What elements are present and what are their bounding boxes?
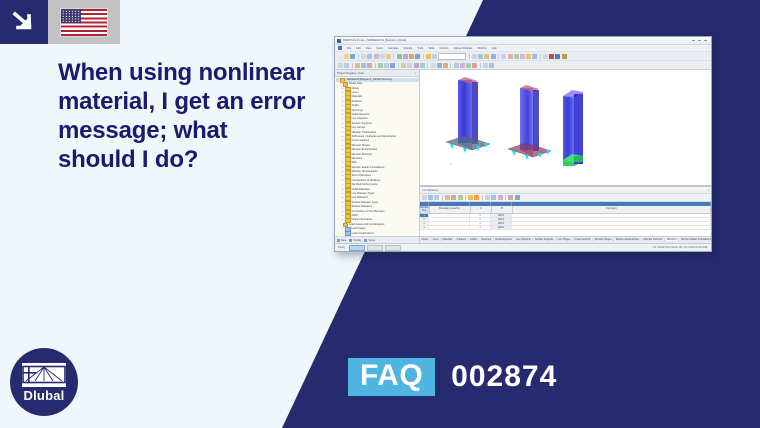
display-icon	[349, 239, 352, 242]
tree-expander-icon[interactable]: +	[341, 167, 344, 170]
toolbar-button-ortho[interactable]	[484, 54, 489, 59]
toolbar2-button-sections[interactable]	[431, 63, 436, 68]
menu-item-file[interactable]: File	[347, 47, 351, 50]
table-button-first[interactable]	[422, 195, 427, 200]
toolbar2-button-move[interactable]	[454, 63, 459, 68]
tree-item-label: FE Mesh Refinements	[352, 184, 378, 187]
viewport-and-table: ⌖ 1.17 Members ×	[420, 70, 711, 243]
toolbar-separator-4	[469, 54, 470, 59]
table-button-highlight[interactable]	[468, 195, 473, 200]
table-button-sort[interactable]	[474, 195, 479, 200]
toolbar-button-help[interactable]	[562, 54, 567, 59]
table-sheet-tab[interactable]: Member Divisions	[642, 239, 665, 241]
tree-item-label: Load Cases	[352, 228, 366, 231]
toolbar-primary[interactable]	[335, 52, 711, 61]
table-header-comment: Comment	[513, 206, 711, 213]
toolbar-button-preview[interactable]	[367, 54, 372, 59]
tree-expander-icon[interactable]: +	[341, 228, 344, 231]
tree-item-label: Member Elastic Foundations	[352, 167, 385, 170]
tree-expander-icon[interactable]: +	[341, 215, 344, 218]
toolbar-button-snap[interactable]	[472, 54, 477, 59]
toolbar2-button-visibility[interactable]	[378, 63, 383, 68]
faq-badge: FAQ	[348, 358, 435, 396]
close-icon[interactable]	[704, 40, 707, 41]
tree-item-label: Line Supports	[352, 118, 368, 121]
model-viewport-3d[interactable]: ⌖	[420, 70, 711, 186]
toolbar-button-print[interactable]	[361, 54, 366, 59]
status-right: CS: Global XYZ | Mesh: OK | SI | CAPS NU…	[653, 246, 708, 249]
table-sheet-tab[interactable]: Members	[665, 239, 679, 241]
toolbar2-separator-5	[450, 63, 451, 68]
table-cell[interactable]	[512, 214, 711, 217]
navigator-tab-views-label: Views	[368, 239, 375, 242]
menu-item-options[interactable]: Options	[440, 47, 449, 50]
column-2	[508, 85, 551, 160]
table-cell[interactable]: 200.0	[491, 214, 512, 217]
table-button-export[interactable]	[458, 195, 463, 200]
views-icon	[364, 239, 367, 242]
toolbar-button-undo[interactable]	[397, 54, 402, 59]
navigator-tab-views[interactable]: Views	[364, 239, 375, 242]
navigator-tab-display-label: Display	[353, 239, 361, 242]
menu-item-results[interactable]: Results	[404, 47, 413, 50]
table-sheet-tab[interactable]: Line Supports	[514, 239, 533, 241]
toolbar-button-grid[interactable]	[478, 54, 483, 59]
flag-canton	[61, 9, 81, 24]
navigator-header: Project Navigator - Data ⌐ ×	[335, 70, 419, 77]
toolbar2-button-zoom-all[interactable]	[361, 63, 366, 68]
tree-expander-icon[interactable]: +	[341, 96, 344, 99]
menu-item-table[interactable]: Table	[428, 47, 434, 50]
table-cell[interactable]: 200.0	[491, 226, 512, 229]
toolbar2-button-deform[interactable]	[407, 63, 412, 68]
tree-item-label: Surface Releases	[352, 206, 372, 209]
toolbar-button-cut[interactable]	[374, 54, 379, 59]
toolbar2-button-dimension[interactable]	[437, 63, 442, 68]
language-flag-badge[interactable]	[48, 0, 120, 44]
table-rows-container[interactable]: 11200.021200.031200.041200.0	[420, 214, 711, 230]
table-header-boundary: Boundary Lines No.	[430, 206, 471, 213]
toolbar-separator-3	[423, 54, 424, 59]
table-sheet-tab[interactable]: Nodes	[420, 239, 431, 241]
table-cell[interactable]: 3	[420, 222, 429, 225]
toolbar-button-wire[interactable]	[432, 54, 437, 59]
table-button-find[interactable]	[498, 195, 503, 200]
tree-expander-icon[interactable]: +	[341, 110, 344, 113]
toolbar-button-lines[interactable]	[508, 54, 513, 59]
table-cell[interactable]	[512, 222, 711, 225]
toolbar2-button-view-xy[interactable]	[344, 63, 349, 68]
status-button-graphic[interactable]	[367, 245, 383, 251]
table-cell[interactable]	[512, 218, 711, 221]
page-title: When using nonlinear material, I get an …	[58, 58, 306, 174]
tree-expander-icon[interactable]: +	[341, 154, 344, 157]
table-cell[interactable]: 1	[470, 218, 491, 221]
toolbar2-button-stress[interactable]	[414, 63, 419, 68]
us-flag-icon	[61, 9, 107, 36]
table-cell[interactable]	[429, 218, 470, 221]
table-button-settings[interactable]	[485, 195, 490, 200]
table-button-next[interactable]	[434, 195, 439, 200]
toolbar2-separator-2	[375, 63, 376, 68]
arrow-down-right-icon	[12, 11, 36, 33]
menu-bar[interactable]: File Edit View Insert Calculate Results …	[335, 45, 711, 52]
tree-expander-icon[interactable]: +	[341, 180, 344, 183]
tree-expander-icon[interactable]: +	[341, 197, 344, 200]
table-cell[interactable]: 1	[470, 226, 491, 229]
toolbar-button-zoom[interactable]	[409, 54, 414, 59]
flag-stars	[62, 10, 80, 23]
tree-expander-icon[interactable]: +	[341, 219, 344, 222]
tree-expander-icon[interactable]: -	[341, 158, 344, 161]
tree-expander-icon[interactable]: +	[341, 140, 344, 143]
tree-expander-icon[interactable]: +	[341, 233, 344, 236]
table-title: 1.17 Members	[422, 189, 438, 192]
tree-expander-icon[interactable]: +	[341, 171, 344, 174]
tree-item-label: Connection of Two Members	[352, 211, 385, 214]
tree-item-label: Cross-Sections	[352, 140, 370, 143]
tree-expander-icon[interactable]: -	[339, 224, 342, 227]
navigator-tab-data-label: Data	[341, 239, 346, 242]
menu-item-addons[interactable]: Add-on Modules	[453, 47, 472, 50]
app-icon	[337, 39, 341, 43]
tree-expander-icon[interactable]: +	[341, 132, 344, 135]
toolbar2-separator-3	[398, 63, 399, 68]
tree-item-label: Surface Supports	[352, 123, 372, 126]
table-sep-3	[482, 195, 483, 200]
toolbar2-button-info[interactable]	[489, 63, 494, 68]
tree-expander-icon[interactable]: +	[341, 105, 344, 108]
table-button-info[interactable]	[515, 195, 520, 200]
tree-expander-icon[interactable]: +	[341, 175, 344, 178]
toolbar2-button-mirror[interactable]	[460, 63, 465, 68]
tree-item-label: Sets of Members	[352, 175, 372, 178]
table-sep	[442, 195, 443, 200]
toolbar2-button-array[interactable]	[466, 63, 471, 68]
window-title-bar[interactable]: RFEM 5.21.01.xxx - [VERKEHR FH_Beispiel …	[335, 37, 711, 45]
toolbar-button-paste[interactable]	[386, 54, 391, 59]
tree-item-label: Nodal Releases	[352, 189, 370, 192]
toolbar-button-osnap[interactable]	[491, 54, 496, 59]
tree-expander-icon[interactable]: +	[341, 114, 344, 117]
toolbar-secondary[interactable]	[335, 61, 711, 70]
toolbar-button-members[interactable]	[514, 54, 519, 59]
table-cell[interactable]: 200.0	[491, 222, 512, 225]
status-bar: Ready CS: Global XYZ | Mesh: OK | SI | C…	[335, 243, 711, 251]
toolbar-separator-2	[393, 54, 394, 59]
table-button-insert-row[interactable]	[445, 195, 450, 200]
toolbar-button-pan[interactable]	[415, 54, 420, 59]
tree-item-label: Line Releases	[352, 197, 368, 200]
window-controls[interactable]	[692, 40, 709, 41]
tree-expander-icon[interactable]: +	[341, 162, 344, 165]
table-sheet-tab[interactable]: Lines	[431, 239, 441, 241]
tree-expander-icon[interactable]: +	[341, 145, 344, 148]
tree-expander-icon[interactable]: +	[341, 189, 344, 192]
structural-model-graphic	[420, 70, 711, 170]
maximize-icon[interactable]	[698, 40, 701, 41]
table-cell[interactable]: 4	[420, 226, 429, 229]
tree-item-label: Nodal Constraints	[352, 219, 373, 222]
toolbar2-separator-6	[480, 63, 481, 68]
table-sheet-tab[interactable]: Surface Supports	[533, 239, 556, 241]
minimize-icon[interactable]	[692, 40, 695, 41]
tree-item-label: Solids	[352, 105, 359, 108]
table-sheet-tab[interactable]: Member Eccentricities	[614, 239, 642, 241]
table-button-prev[interactable]	[428, 195, 433, 200]
table-cell[interactable]: 2	[420, 218, 429, 221]
table-sheet-tab[interactable]: Solids	[469, 239, 480, 241]
navigator-tab-display[interactable]: Display	[349, 239, 361, 242]
menu-item-edit[interactable]: Edit	[356, 47, 360, 50]
table-button-filter[interactable]	[491, 195, 496, 200]
faq-footer: FAQ 002874	[348, 358, 557, 396]
toolbar-button-surfaces[interactable]	[520, 54, 525, 59]
application-body: Project Navigator - Data ⌐ × - VERKEHR […	[335, 70, 711, 243]
menu-item-help[interactable]: Help	[492, 47, 497, 50]
navigator-header-label: Project Navigator - Data	[337, 72, 364, 75]
tree-item-label: Model Data	[349, 83, 362, 86]
table-close-icon[interactable]: ×	[708, 189, 711, 192]
arrow-badge	[0, 0, 48, 44]
toolbar-button-new[interactable]	[338, 54, 343, 59]
menu-item-tools[interactable]: Tools	[417, 47, 423, 50]
toolbar2-button-loads[interactable]	[401, 63, 406, 68]
table-sheet-tab[interactable]: Openings	[479, 239, 493, 241]
table-cell[interactable]	[512, 226, 711, 229]
toolbar-button-solids[interactable]	[526, 54, 531, 59]
table-row[interactable]: 41200.0	[420, 226, 711, 230]
table-button-delete-row[interactable]	[451, 195, 456, 200]
tree-expander-icon[interactable]: +	[341, 149, 344, 152]
navigator-pin-icon[interactable]: ⌐ ×	[410, 72, 419, 75]
tree-expander-icon[interactable]: -	[339, 83, 342, 86]
tree-item-label: Variable Thicknesses	[352, 132, 376, 135]
table-sep-2	[465, 195, 466, 200]
data-table-panel[interactable]: 1.17 Members ×	[420, 186, 711, 243]
table-header-thickness: B	[492, 206, 513, 213]
toolbar-button-save[interactable]	[350, 54, 355, 59]
tree-expander-icon[interactable]: +	[341, 101, 344, 104]
toolbar-button-copy[interactable]	[380, 54, 385, 59]
load-case-select[interactable]	[438, 53, 466, 60]
toolbar2-button-zoom-win[interactable]	[355, 63, 360, 68]
menu-item-window[interactable]: Window	[477, 47, 486, 50]
toolbar2-button-view-iso[interactable]	[338, 63, 343, 68]
table-cell[interactable]	[429, 226, 470, 229]
data-icon	[337, 239, 340, 242]
tree-expander-icon[interactable]: +	[341, 136, 344, 139]
dlubal-logo[interactable]: Dlubal	[10, 348, 78, 416]
toolbar-button-supports[interactable]	[532, 54, 537, 59]
table-cell[interactable]	[429, 222, 470, 225]
tree-expander-icon[interactable]: +	[341, 202, 344, 205]
toolbar2-button-delete[interactable]	[472, 63, 477, 68]
status-button-ok[interactable]	[385, 245, 401, 251]
toolbar-button-calc[interactable]	[543, 54, 548, 59]
table-sheet-tab[interactable]: Line Hinges	[556, 239, 573, 241]
status-button-row[interactable]	[349, 245, 401, 251]
toolbar2-button-text[interactable]	[443, 63, 448, 68]
mouse-cursor-icon: ⌖	[450, 162, 452, 166]
tree-expander-icon[interactable]: +	[341, 211, 344, 214]
logo-wordmark: Dlubal	[10, 388, 78, 403]
toolbar2-button-layers[interactable]	[384, 63, 389, 68]
table-cell[interactable]: 200.0	[491, 218, 512, 221]
status-button-calculation[interactable]	[349, 245, 365, 251]
toolbar2-button-filter[interactable]	[390, 63, 395, 68]
table-header-member-no: Member No.	[420, 206, 430, 213]
toolbar-button-results[interactable]	[549, 54, 554, 59]
tree-item-label: Materials	[352, 96, 363, 99]
table-cell[interactable]: 1	[470, 222, 491, 225]
table-cell[interactable]: 1	[470, 214, 491, 217]
tree-expander-icon[interactable]: +	[341, 127, 344, 130]
column-1	[446, 77, 490, 153]
faq-number: 002874	[451, 362, 557, 392]
navigator-tabs[interactable]: Data Display Views	[335, 236, 419, 243]
rfem-application-window[interactable]: RFEM 5.21.01.xxx - [VERKEHR FH_Beispiel …	[334, 36, 712, 252]
table-sheet-tab[interactable]: Surfaces	[455, 239, 469, 241]
table-grid[interactable]: Member No. Boundary Lines No. A B Commen…	[420, 202, 711, 236]
tree-expander-icon[interactable]: +	[341, 88, 344, 91]
truss-bridge-icon	[22, 363, 66, 387]
table-toolbar[interactable]	[420, 194, 711, 202]
toolbar-separator	[358, 54, 359, 59]
toolbar-separator-5	[498, 54, 499, 59]
tree-item-label: Ribs	[352, 162, 357, 165]
tree-expander-icon[interactable]: +	[341, 118, 344, 121]
toolbar2-separator-4	[427, 63, 428, 68]
tree-item-label: Load Cases and Combinations	[349, 224, 384, 227]
tree-expander-icon[interactable]: +	[341, 193, 344, 196]
tree-expander-icon[interactable]: +	[341, 92, 344, 95]
toolbar-button-nodes[interactable]	[501, 54, 506, 59]
table-button-print[interactable]	[508, 195, 513, 200]
toolbar-button-render[interactable]	[426, 54, 431, 59]
table-sheet-tab[interactable]: Member Elastic Foundations	[679, 239, 711, 241]
menu-app-icon	[338, 46, 342, 50]
toolbar2-button-settings[interactable]	[483, 63, 488, 68]
table-title-bar: 1.17 Members ×	[420, 187, 711, 194]
tree-expander-icon[interactable]: +	[341, 206, 344, 209]
slide-canvas: When using nonlinear material, I get an …	[0, 0, 760, 428]
table-sep-4	[505, 195, 506, 200]
tree-item-label: Openings	[352, 110, 363, 113]
project-navigator-panel[interactable]: Project Navigator - Data ⌐ × - VERKEHR […	[335, 70, 420, 243]
tree-item-label: Line Hinges	[352, 127, 366, 130]
toolbar-button-redo[interactable]	[403, 54, 408, 59]
menu-item-view[interactable]: View	[366, 47, 372, 50]
table-sheet-tab[interactable]: Materials	[441, 239, 455, 241]
table-header-material: A	[471, 206, 492, 213]
toolbar2-button-mesh[interactable]	[420, 63, 425, 68]
menu-item-insert[interactable]: Insert	[376, 47, 383, 50]
tree-item-label: Member Eccentricities	[352, 149, 378, 152]
tree-item-label: Member Divisions	[352, 154, 373, 157]
tree-expander-icon[interactable]: +	[341, 184, 344, 187]
toolbar-button-report[interactable]	[555, 54, 560, 59]
toolbar-button-open[interactable]	[344, 54, 349, 59]
toolbar2-button-rotate[interactable]	[367, 63, 372, 68]
table-header-row: Member No. Boundary Lines No. A B Commen…	[420, 206, 711, 214]
window-title: RFEM 5.21.01.xxx - [VERKEHR FH_Beispiel …	[343, 39, 406, 42]
table-cell[interactable]	[429, 214, 470, 217]
toolbar-separator-6	[540, 54, 541, 59]
status-left: Ready	[338, 246, 345, 249]
table-sheet-tab[interactable]: Cross-Sections	[573, 239, 593, 241]
tree-item-label: Member Hinges	[352, 145, 370, 148]
column-3	[563, 90, 583, 166]
table-sheet-tab[interactable]: Member Hinges	[593, 239, 614, 241]
tree-item-label: Nodes	[352, 88, 360, 91]
toolbar2-separator	[352, 63, 353, 68]
tree-expander: -	[336, 79, 339, 82]
tree-item-label: Load Combinations	[352, 233, 374, 236]
menu-item-calculate[interactable]: Calculate	[388, 47, 399, 50]
navigator-tab-data[interactable]: Data	[337, 239, 346, 242]
table-sheet-tab[interactable]: Nodal Supports	[494, 239, 515, 241]
tree-expander-icon[interactable]: +	[341, 123, 344, 126]
model-tree[interactable]: - VERKEHR [Beispiel 1_Dlubal' Dichtung -…	[335, 77, 419, 236]
table-cell[interactable]: 1	[420, 214, 429, 217]
table-sheet-tabs[interactable]: NodesLinesMaterialsSurfacesSolidsOpening…	[420, 236, 711, 243]
